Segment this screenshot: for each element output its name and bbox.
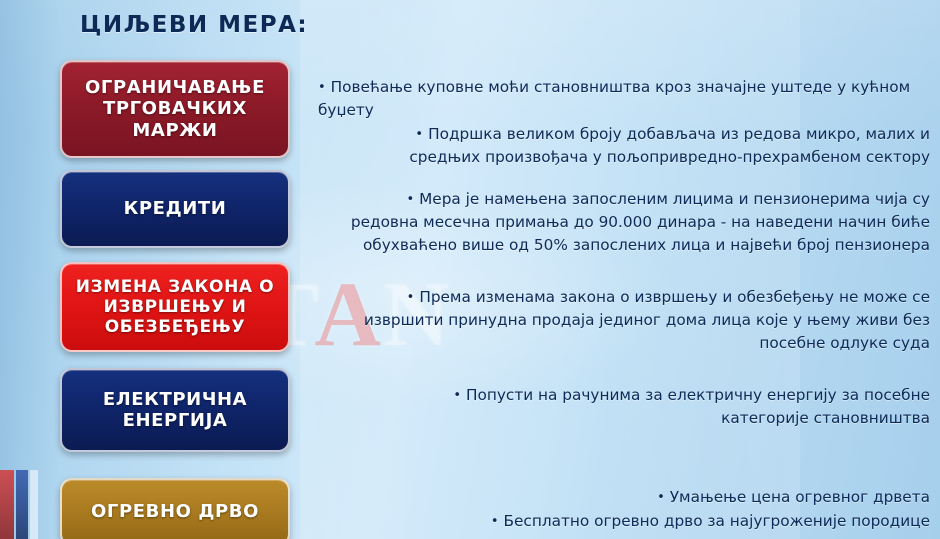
bullet-item: •Умањење цена огревног дрвета (400, 486, 930, 509)
measure-bullets-krediti: •Мера је намењена запосленим лицима и пе… (340, 188, 930, 258)
bullet-dot: • (406, 192, 419, 207)
measure-bullets-izmena-zakona: •Према изменама закона о извршењу и обез… (340, 286, 930, 356)
bullet-text: Према изменама закона о извршењу и обезб… (364, 288, 930, 352)
measure-bullets-trgovacke-marze: •Повећање куповне моћи становништва кроз… (318, 76, 930, 170)
decorative-stripe-white (30, 470, 38, 539)
bullet-text: Умањење цена огревног дрвета (670, 488, 930, 506)
bullet-dot: • (453, 388, 466, 403)
bullet-text: Мера је намењена запосленим лицима и пен… (351, 190, 930, 254)
decorative-stripe-red (0, 470, 14, 539)
bullet-item: •Подршка великом броју добављача из редо… (318, 123, 930, 169)
measure-chip-label: КРЕДИТИ (124, 198, 227, 219)
bullet-dot: • (407, 290, 420, 305)
measure-chip-label: ОГРАНИЧАВАЊЕ ТРГОВАЧКИХ МАРЖИ (85, 77, 265, 141)
bullet-dot: • (415, 127, 428, 142)
background-band-left (0, 0, 60, 539)
bullet-item: •Бесплатно огревно дрво за најугроженије… (400, 510, 930, 533)
bullet-item: •Повећање куповне моћи становништва кроз… (318, 76, 930, 122)
measure-chip-label: ИЗМЕНА ЗАКОНА О ИЗВРШЕЊУ И ОБЕЗБЕЂЕЊУ (76, 277, 274, 337)
bullet-text: Бесплатно огревно дрво за најугроженије … (504, 512, 930, 530)
bullet-text: Попусти на рачунима за електричну енерги… (466, 386, 930, 427)
page-title: ЦИЉЕВИ МЕРА: (80, 12, 308, 38)
measure-bullets-ogrevno-drvo: •Умањење цена огревног дрвета •Бесплатно… (400, 486, 930, 534)
bullet-item: •Попусти на рачунима за електричну енерг… (380, 384, 930, 430)
bullet-text: Повећање куповне моћи становништва кроз … (318, 78, 910, 119)
slide-canvas: TAN ЦИЉЕВИ МЕРА: ОГРАНИЧАВАЊЕ ТРГОВАЧКИХ… (0, 0, 940, 539)
bullet-dot: • (491, 514, 504, 529)
bullet-dot: • (657, 490, 670, 505)
measure-chip-ogrevno-drvo: ОГРЕВНО ДРВО (60, 478, 290, 539)
measure-chip-trgovacke-marze: ОГРАНИЧАВАЊЕ ТРГОВАЧКИХ МАРЖИ (60, 60, 290, 158)
measure-chip-label: ОГРЕВНО ДРВО (91, 501, 259, 522)
measure-chip-elektricna-energija: ЕЛЕКТРИЧНА ЕНЕРГИЈА (60, 368, 290, 452)
bullet-text: Подршка великом броју добављача из редов… (409, 125, 930, 166)
measure-bullets-elektricna-energija: •Попусти на рачунима за електричну енерг… (380, 384, 930, 431)
measure-chip-izmena-zakona: ИЗМЕНА ЗАКОНА О ИЗВРШЕЊУ И ОБЕЗБЕЂЕЊУ (60, 262, 290, 352)
bullet-item: •Према изменама закона о извршењу и обез… (340, 286, 930, 355)
measure-chip-krediti: КРЕДИТИ (60, 170, 290, 248)
bullet-item: •Мера је намењена запосленим лицима и пе… (340, 188, 930, 257)
decorative-stripe-blue (16, 470, 28, 539)
measure-chip-label: ЕЛЕКТРИЧНА ЕНЕРГИЈА (103, 389, 247, 431)
bullet-dot: • (318, 80, 331, 95)
